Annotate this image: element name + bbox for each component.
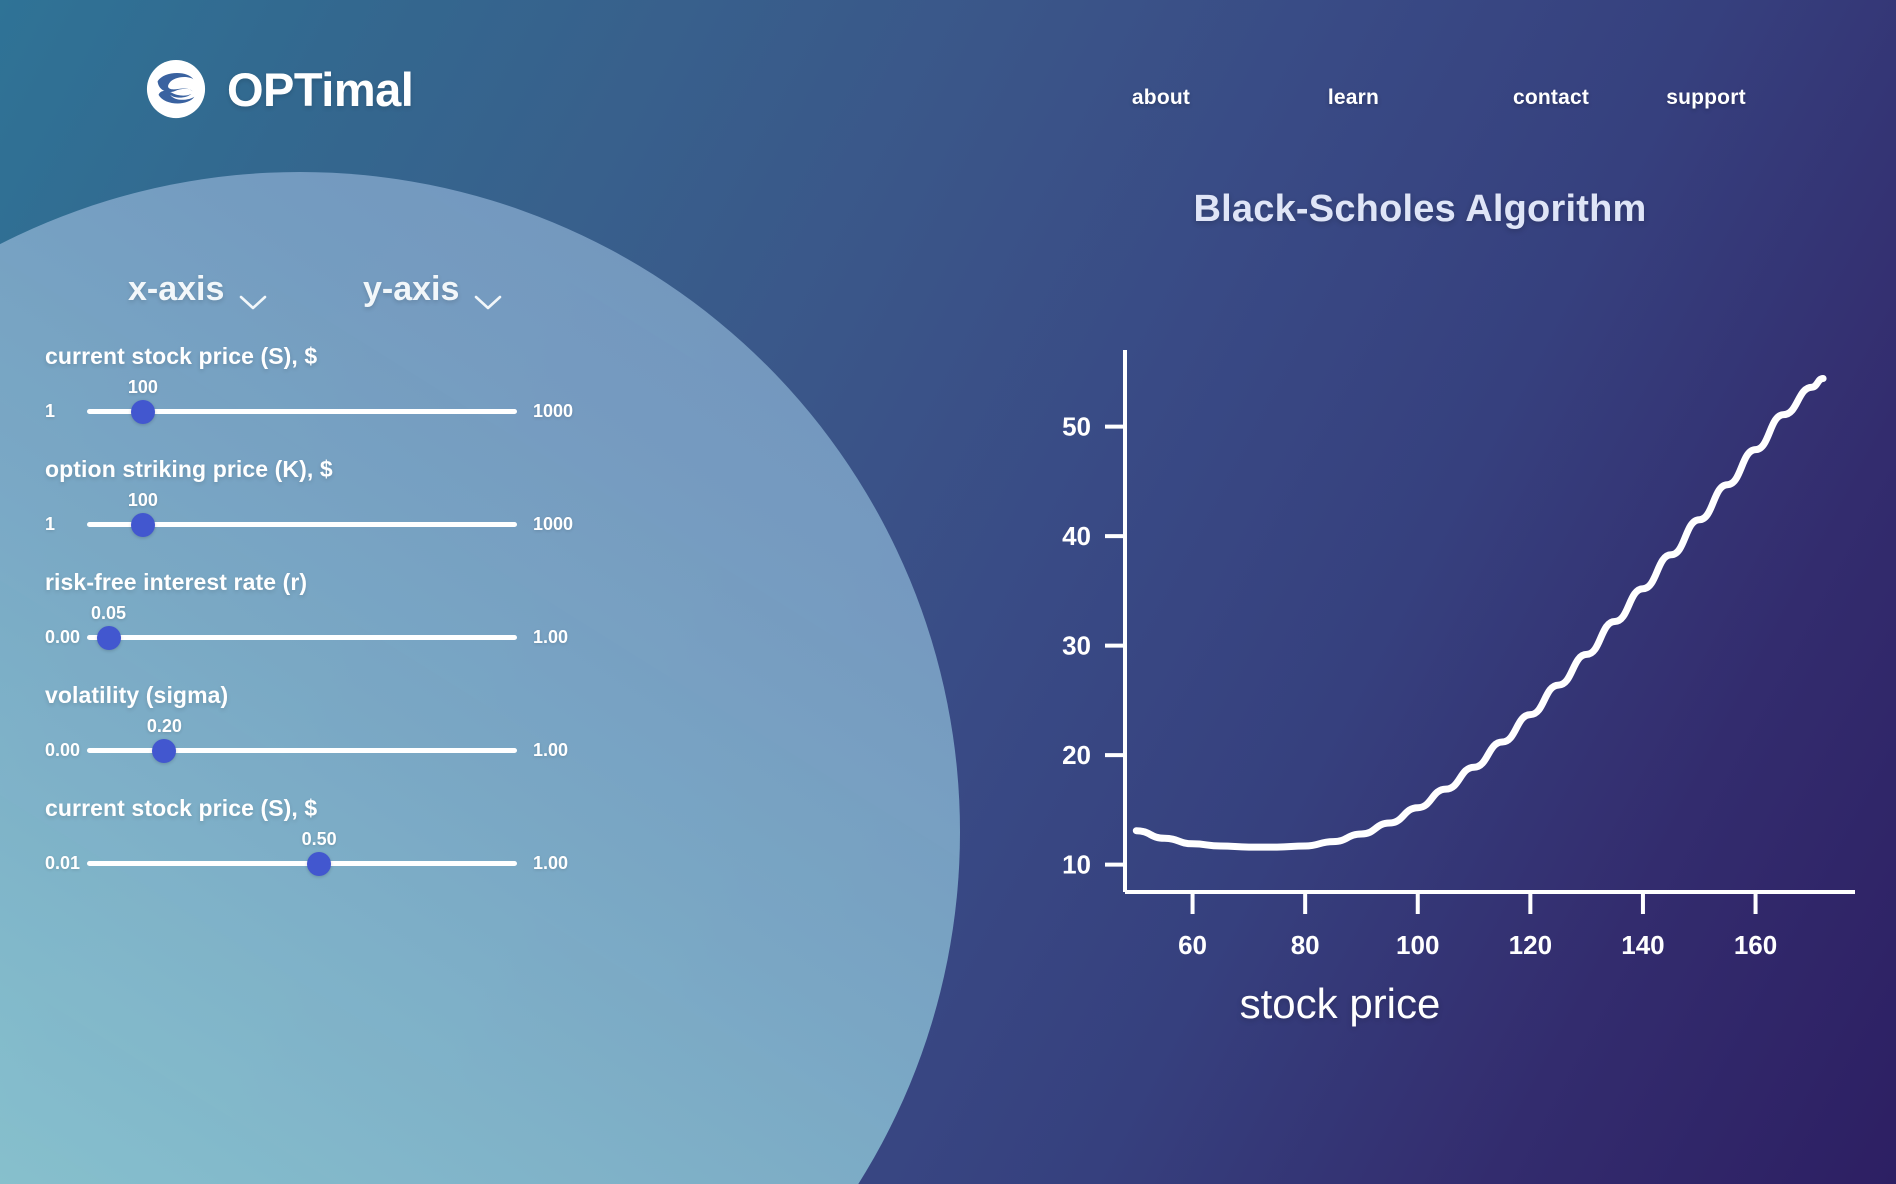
- slider-min-value: 1: [45, 401, 87, 422]
- slider-current-value: 0.50: [302, 829, 337, 850]
- slider-row: 1 100 1000: [45, 511, 605, 537]
- slider-max-value: 1000: [533, 514, 573, 535]
- slider-group-volatility: volatility (sigma) 0.00 0.20 1.00: [45, 682, 605, 763]
- slider-row: 0.00 0.05 1.00: [45, 624, 605, 650]
- slider-label: volatility (sigma): [45, 682, 605, 709]
- slider-label: option striking price (K), $: [45, 456, 605, 483]
- slider-group-current-stock-price: current stock price (S), $ 1 100 1000: [45, 343, 605, 424]
- slider-current-value: 0.05: [91, 603, 126, 624]
- slider-track-wrap[interactable]: 0.20: [87, 737, 517, 763]
- slider-thumb[interactable]: [131, 513, 155, 537]
- slider-group-risk-free-rate: risk-free interest rate (r) 0.00 0.05 1.…: [45, 569, 605, 650]
- nav-item-about[interactable]: about: [1066, 86, 1256, 110]
- slider-label: current stock price (S), $: [45, 795, 605, 822]
- svg-text:20: 20: [1062, 740, 1091, 770]
- slider-group-option-striking-price: option striking price (K), $ 1 100 1000: [45, 456, 605, 537]
- chevron-down-icon: [238, 281, 268, 299]
- svg-text:80: 80: [1291, 930, 1320, 960]
- x-axis-dropdown[interactable]: x-axis: [128, 270, 363, 309]
- svg-text:60: 60: [1178, 930, 1207, 960]
- slider-thumb[interactable]: [152, 739, 176, 763]
- slider-track: [87, 635, 517, 640]
- x-axis-dropdown-label: x-axis: [128, 270, 224, 309]
- slider-min-value: 0.00: [45, 627, 87, 648]
- slider-current-value: 100: [128, 490, 158, 511]
- main-nav: about learn contact support: [1066, 86, 1761, 110]
- site-header: OPTimal about learn contact support: [0, 0, 1896, 170]
- chevron-down-icon: [473, 281, 503, 299]
- slider-current-value: 0.20: [147, 716, 182, 737]
- svg-text:100: 100: [1396, 930, 1439, 960]
- slider-current-value: 100: [128, 377, 158, 398]
- slider-thumb[interactable]: [307, 852, 331, 876]
- slider-track: [87, 861, 517, 866]
- nav-item-contact[interactable]: contact: [1451, 86, 1651, 110]
- slider-label: current stock price (S), $: [45, 343, 605, 370]
- y-axis-dropdown-label: y-axis: [363, 270, 459, 309]
- svg-text:140: 140: [1621, 930, 1664, 960]
- slider-min-value: 1: [45, 514, 87, 535]
- y-axis-dropdown[interactable]: y-axis: [363, 270, 503, 309]
- controls-panel: x-axis y-axis current stock price (S), $: [0, 270, 800, 908]
- slider-row: 1 100 1000: [45, 398, 605, 424]
- slider-max-value: 1.00: [533, 853, 568, 874]
- svg-text:40: 40: [1062, 521, 1091, 551]
- chart-title: Black-Scholes Algorithm: [1070, 188, 1770, 231]
- svg-text:50: 50: [1062, 412, 1091, 442]
- slider-track-wrap[interactable]: 0.05: [87, 624, 517, 650]
- app-root: OPTimal about learn contact support x-ax…: [0, 0, 1896, 1184]
- slider-group-time-to-maturity: current stock price (S), $ 0.01 0.50 1.0…: [45, 795, 605, 876]
- nav-item-learn[interactable]: learn: [1256, 86, 1451, 110]
- slider-min-value: 0.01: [45, 853, 87, 874]
- slider-track-wrap[interactable]: 0.50: [87, 850, 517, 876]
- slider-max-value: 1000: [533, 401, 573, 422]
- brand-name: OPTimal: [227, 66, 413, 113]
- axis-selector-row: x-axis y-axis: [128, 270, 800, 309]
- svg-text:120: 120: [1509, 930, 1552, 960]
- slider-track-wrap[interactable]: 100: [87, 398, 517, 424]
- slider-min-value: 0.00: [45, 740, 87, 761]
- slider-thumb[interactable]: [97, 626, 121, 650]
- black-scholes-line-chart: 10203040506080100120140160: [960, 330, 1860, 1010]
- slider-thumb[interactable]: [131, 400, 155, 424]
- slider-row: 0.00 0.20 1.00: [45, 737, 605, 763]
- slider-label: risk-free interest rate (r): [45, 569, 605, 596]
- svg-text:160: 160: [1734, 930, 1777, 960]
- slider-max-value: 1.00: [533, 740, 568, 761]
- slider-max-value: 1.00: [533, 627, 568, 648]
- svg-text:10: 10: [1062, 850, 1091, 880]
- slider-track-wrap[interactable]: 100: [87, 511, 517, 537]
- swirl-circle-logo-icon: [145, 58, 207, 120]
- nav-item-support[interactable]: support: [1651, 86, 1761, 110]
- brand-logo[interactable]: OPTimal: [145, 58, 413, 120]
- slider-row: 0.01 0.50 1.00: [45, 850, 605, 876]
- chart-panel: Black-Scholes Algorithm 1020304050608010…: [960, 160, 1896, 1100]
- svg-text:30: 30: [1062, 631, 1091, 661]
- chart-xaxis-label: stock price: [960, 980, 1720, 1028]
